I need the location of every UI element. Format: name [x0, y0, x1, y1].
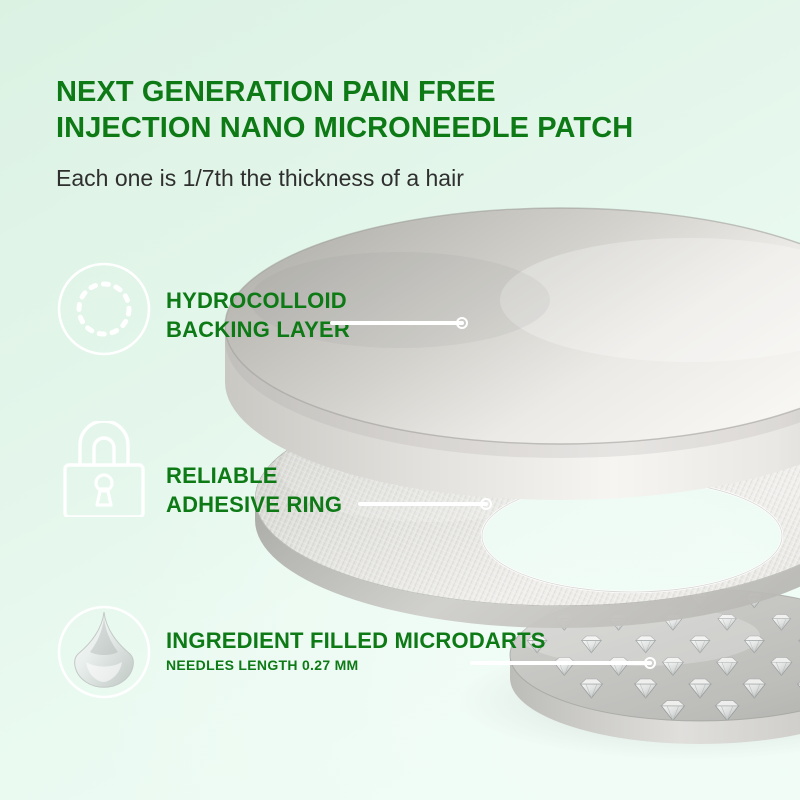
padlock-icon: [56, 421, 152, 517]
microdart-icon: [56, 604, 152, 700]
leader-line-adhesive-ring: [358, 502, 488, 506]
leader-endpoint-dot: [456, 317, 468, 329]
leader-endpoint-dot: [480, 498, 492, 510]
headline-line-2: INJECTION NANO MICRONEEDLE PATCH: [56, 110, 696, 146]
leader-line-stroke: [330, 321, 464, 325]
headline-block: NEXT GENERATION PAIN FREE INJECTION NANO…: [56, 74, 696, 146]
subheadline: Each one is 1/7th the thickness of a hai…: [56, 163, 464, 193]
feature-sublabel: NEEDLES LENGTH 0.27 MM: [166, 655, 546, 675]
feature-label-line-2: BACKING LAYER: [166, 315, 350, 344]
feature-label-group: HYDROCOLLOID BACKING LAYER: [166, 286, 350, 344]
hydrocolloid-backing-layer: [225, 208, 800, 500]
infographic-page: NEXT GENERATION PAIN FREE INJECTION NANO…: [0, 0, 800, 800]
leader-line-microdarts: [470, 661, 652, 665]
feature-label-line-1: HYDROCOLLOID: [166, 286, 350, 315]
headline-line-1: NEXT GENERATION PAIN FREE: [56, 74, 696, 110]
feature-label-line-2: ADHESIVE RING: [166, 490, 342, 519]
feature-label-group: RELIABLE ADHESIVE RING: [166, 461, 342, 519]
leader-endpoint-dot: [644, 657, 656, 669]
leader-line-hydrocolloid: [330, 321, 464, 325]
feature-label-line-1: RELIABLE: [166, 461, 342, 490]
feature-label-group: INGREDIENT FILLED MICRODARTS NEEDLES LEN…: [166, 626, 546, 675]
leader-line-stroke: [358, 502, 488, 506]
feature-label-line-1: INGREDIENT FILLED MICRODARTS: [166, 626, 546, 655]
leader-line-stroke: [470, 661, 652, 665]
dashed-circle-icon: [56, 261, 152, 357]
